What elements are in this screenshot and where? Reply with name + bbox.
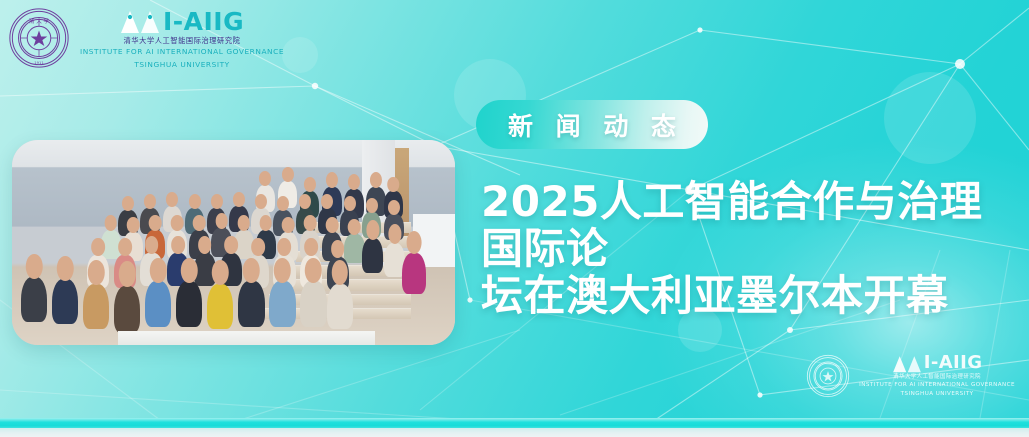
header-wordmark: I-AIIG [163,9,244,34]
header-logo-lockup[interactable]: 清 大 学 1911 I-AIIG 清华大学人工智能国际治理研究院 INSTI [8,6,284,70]
i-aiig-mountain-mark-watermark-icon [892,354,922,373]
svg-text:1911: 1911 [34,61,44,65]
header-logo-text: I-AIIG 清华大学人工智能国际治理研究院 INSTITUTE FOR AI … [80,6,284,70]
header-institute-cn: 清华大学人工智能国际治理研究院 [124,37,241,44]
footer-institute-en-line2: TSINGHUA UNIVERSITY [901,391,974,399]
group-photo-image [12,140,455,345]
footer-watermark-text: I-AIIG 清华大学人工智能国际治理研究院 INSTITUTE FOR AI … [859,354,1015,400]
tsinghua-university-seal-watermark-icon [806,354,850,398]
tsinghua-university-seal-icon: 清 大 学 1911 [8,7,70,69]
footer-wordmark: I-AIIG [924,354,983,372]
news-category-label: 新 闻 动 态 [501,107,683,143]
bottom-pale-stripe [0,428,1029,437]
footer-watermark-logo: I-AIIG 清华大学人工智能国际治理研究院 INSTITUTE FOR AI … [806,354,1015,400]
news-category-badge[interactable]: 新 闻 动 态 [476,100,708,149]
group-photo-people [12,140,455,345]
news-banner: 清 大 学 1911 I-AIIG 清华大学人工智能国际治理研究院 INSTI [0,0,1029,437]
i-aiig-mountain-mark-icon [120,8,160,34]
headline-title: 2025人工智能合作与治理国际论 坛在澳大利亚墨尔本开幕 [481,178,1011,319]
group-photo-card[interactable] [12,140,455,345]
header-institute-en-line1: INSTITUTE FOR AI INTERNATIONAL GOVERNANC… [80,47,284,57]
header-institute-en-line2: TSINGHUA UNIVERSITY [134,60,229,70]
footer-institute-cn: 清华大学人工智能国际治理研究院 [893,375,981,380]
footer-institute-en-line1: INSTITUTE FOR AI INTERNATIONAL GOVERNANC… [859,382,1015,390]
